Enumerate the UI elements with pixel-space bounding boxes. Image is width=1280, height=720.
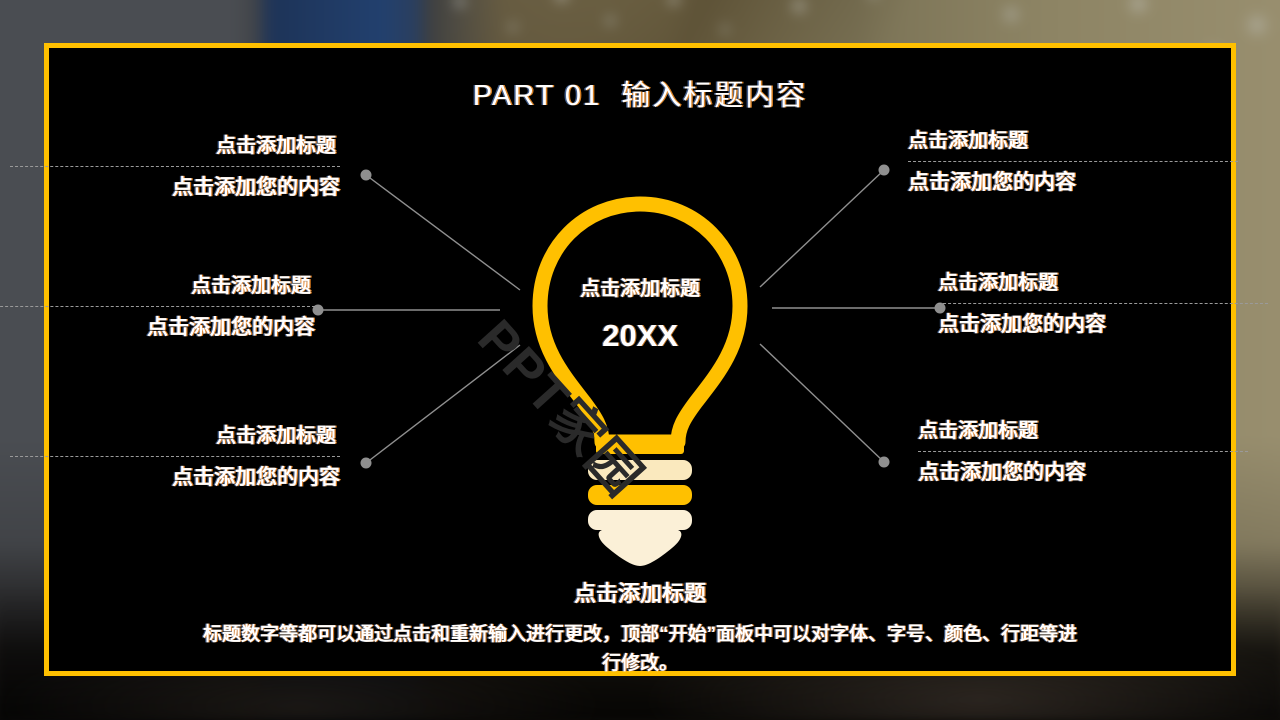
list-item[interactable]: 点击添加标题 点击添加您的内容 bbox=[908, 130, 1238, 195]
page-title: PART 01 输入标题内容 bbox=[0, 72, 1280, 114]
item-divider bbox=[938, 303, 1268, 304]
item-divider bbox=[0, 306, 315, 307]
item-title: 点击添加标题 bbox=[908, 130, 1238, 153]
bulb-base-stripe-3 bbox=[588, 510, 692, 530]
bulb-base-tip bbox=[492, 528, 788, 570]
footer-body: 标题数字等都可以通过点击和重新输入进行更改，顶部“开始”面板中可以对字体、字号、… bbox=[196, 620, 1084, 679]
item-title: 点击添加标题 bbox=[10, 425, 340, 448]
item-divider bbox=[10, 456, 340, 457]
center-label: 点击添加标题 bbox=[492, 272, 788, 301]
list-item[interactable]: 点击添加标题 点击添加您的内容 bbox=[0, 275, 315, 340]
center-year: 20XX bbox=[492, 318, 788, 354]
bulb-base-stripe-2 bbox=[588, 485, 692, 505]
item-divider bbox=[908, 161, 1238, 162]
item-title: 点击添加标题 bbox=[918, 420, 1248, 443]
bulb-base-stripe-1 bbox=[588, 460, 692, 480]
item-body: 点击添加您的内容 bbox=[908, 171, 1238, 195]
list-item[interactable]: 点击添加标题 点击添加您的内容 bbox=[10, 135, 340, 200]
item-body: 点击添加您的内容 bbox=[10, 176, 340, 200]
list-item[interactable]: 点击添加标题 点击添加您的内容 bbox=[918, 420, 1248, 485]
item-body: 点击添加您的内容 bbox=[10, 466, 340, 490]
list-item[interactable]: 点击添加标题 点击添加您的内容 bbox=[938, 272, 1268, 337]
list-item[interactable]: 点击添加标题 点击添加您的内容 bbox=[10, 425, 340, 490]
footer-title: 点击添加标题 bbox=[0, 576, 1280, 608]
item-body: 点击添加您的内容 bbox=[0, 316, 315, 340]
item-body: 点击添加您的内容 bbox=[938, 313, 1268, 337]
lightbulb-icon bbox=[492, 190, 788, 530]
slide-root: PART 01 输入标题内容 点击添加标题 20XX PPT家园 点击添加标题 … bbox=[0, 0, 1280, 720]
item-body: 点击添加您的内容 bbox=[918, 461, 1248, 485]
item-title: 点击添加标题 bbox=[938, 272, 1268, 295]
item-title: 点击添加标题 bbox=[0, 275, 315, 298]
item-divider bbox=[10, 166, 340, 167]
item-divider bbox=[918, 451, 1248, 452]
item-title: 点击添加标题 bbox=[10, 135, 340, 158]
